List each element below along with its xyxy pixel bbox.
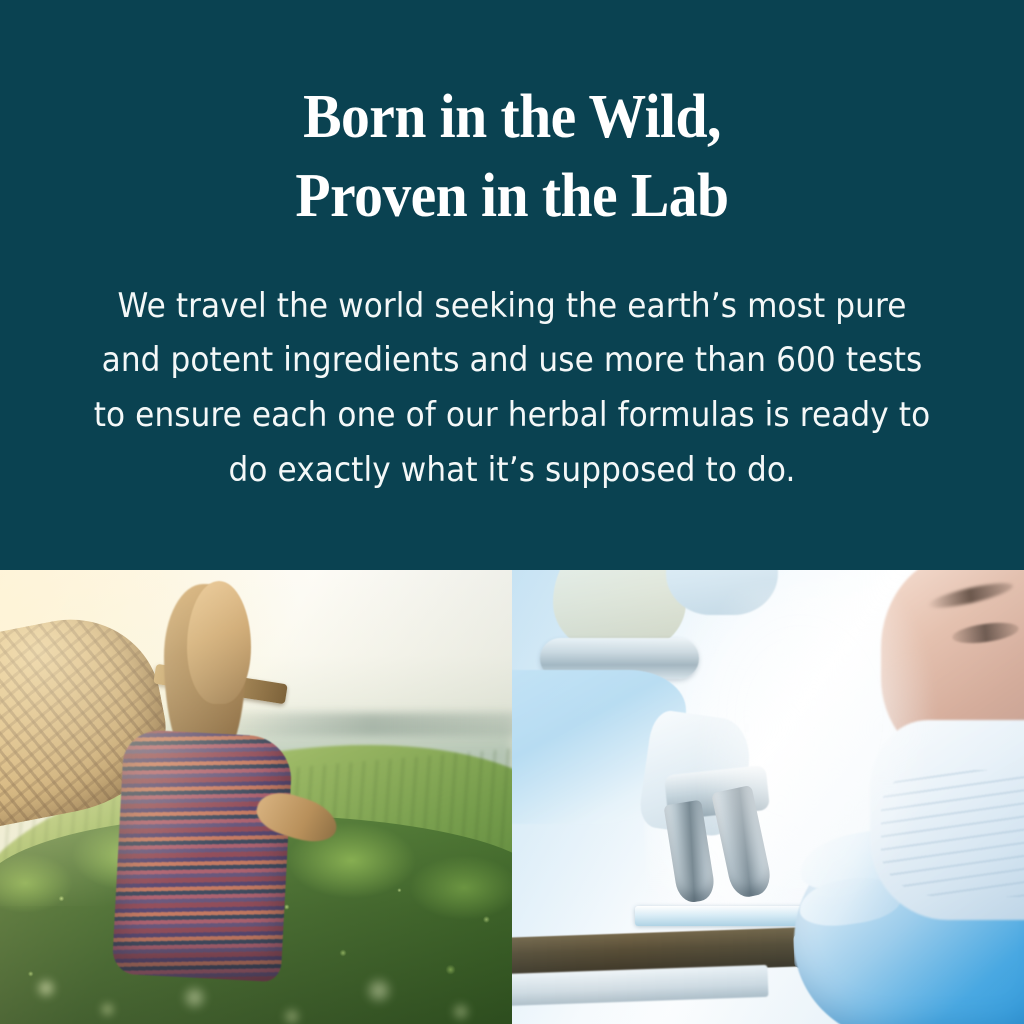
striped-poncho bbox=[111, 729, 293, 983]
photo-lab-microscope bbox=[512, 570, 1024, 1024]
hero-body-text: We travel the world seeking the earth’s … bbox=[94, 279, 931, 497]
harvester-head bbox=[187, 581, 251, 704]
mask-pleats bbox=[881, 770, 1024, 897]
photo-wild-harvest bbox=[0, 570, 512, 1024]
distant-treeline bbox=[205, 713, 512, 736]
hero-panel: Born in the Wild, Proven in the Lab We t… bbox=[0, 0, 1024, 570]
promo-graphic: Born in the Wild, Proven in the Lab We t… bbox=[0, 0, 1024, 1024]
headline-line-2: Proven in the Lab bbox=[94, 157, 931, 236]
headline-line-1: Born in the Wild, bbox=[94, 78, 931, 157]
specimen-slide bbox=[635, 906, 809, 926]
photo-strip bbox=[0, 570, 1024, 1024]
page-title: Born in the Wild, Proven in the Lab bbox=[94, 78, 931, 237]
